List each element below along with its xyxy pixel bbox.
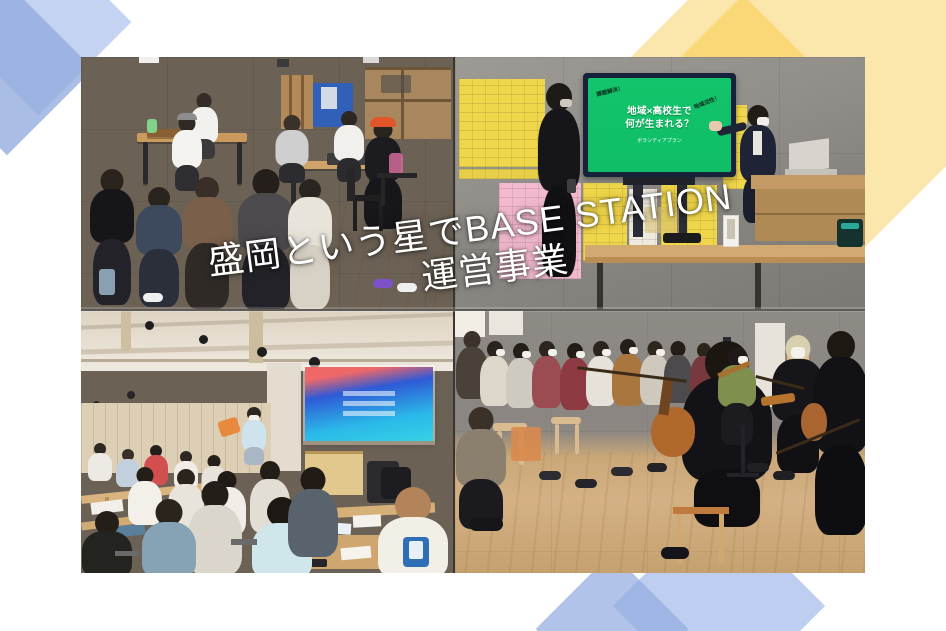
- screen-note-right: 地域活性！: [693, 93, 722, 111]
- collage-seam: [81, 307, 865, 312]
- screen-headline-line2: 何が生まれる？: [625, 119, 694, 132]
- diamond-shape: [0, 0, 93, 155]
- screen-headline-line1: 地域×高校生で: [627, 106, 692, 119]
- photo-seminar: [81, 311, 453, 573]
- photo-workshop: [81, 57, 453, 309]
- projection-screen: [305, 367, 433, 441]
- photo-collage: 課題解決！ 地域活性！ 地域×高校生で 何が生まれる？ ボランティアプラン: [81, 57, 865, 573]
- photo-student-presentation: 課題解決！ 地域活性！ 地域×高校生で 何が生まれる？ ボランティアプラン: [455, 57, 865, 309]
- screen-tagline: ボランティアプラン: [637, 137, 682, 144]
- photo-concert: [455, 311, 865, 573]
- slide-canvas: 課題解決！ 地域活性！ 地域×高校生で 何が生まれる？ ボランティアプラン: [0, 0, 946, 631]
- screen-note-left: 課題解決！: [595, 84, 624, 98]
